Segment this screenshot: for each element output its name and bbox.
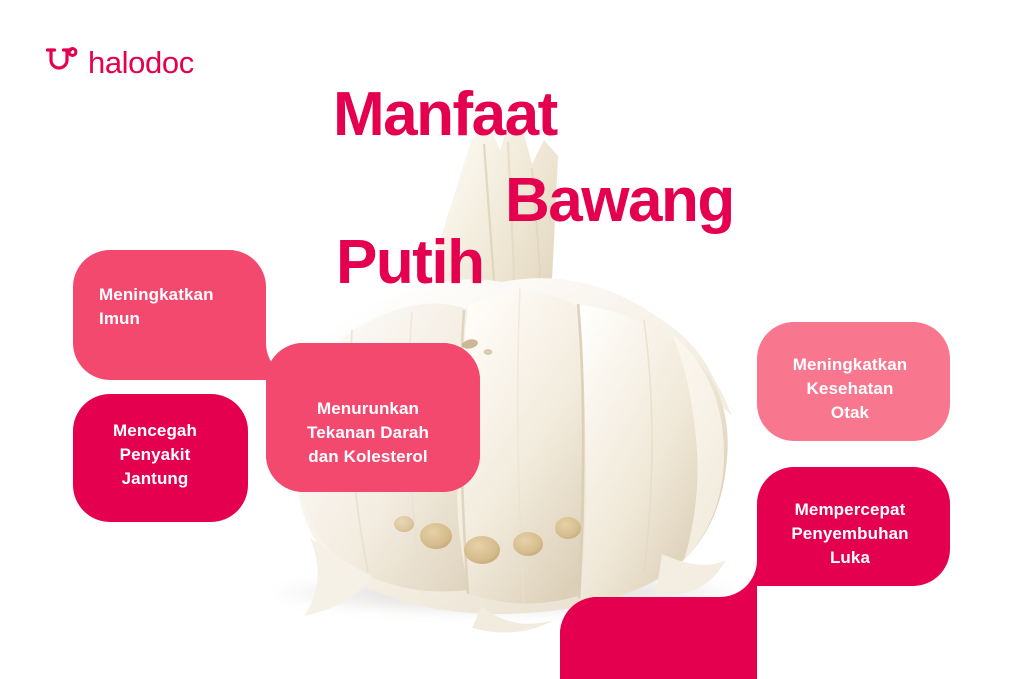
badge-label-meningkatkan-kesehatan-otak: Meningkatkan Kesehatan Otak [768, 353, 932, 425]
badge-label-menurunkan-tekanan-darah: Menurunkan Tekanan Darah dan Kolesterol [275, 397, 461, 469]
badge-label-mempercepat-penyembuhan-luka: Mempercepat Penyembuhan Luka [768, 498, 932, 570]
stethoscope-icon [45, 45, 79, 79]
title-line-1: Manfaat [333, 84, 557, 146]
brand-name: halodoc [88, 47, 194, 78]
badge-label-mencegah-penyakit-jantung: Mencegah Penyakit Jantung [79, 419, 231, 491]
badge-label-meningkatkan-imun: Meningkatkan Imun [99, 283, 279, 331]
infographic-canvas: Manfaat Bawang Putih Meningkatkan Imun M… [0, 0, 1024, 679]
brand-logo[interactable]: halodoc [45, 40, 194, 84]
title-line-2: Bawang [505, 170, 734, 232]
title-line-3: Putih [336, 232, 483, 294]
